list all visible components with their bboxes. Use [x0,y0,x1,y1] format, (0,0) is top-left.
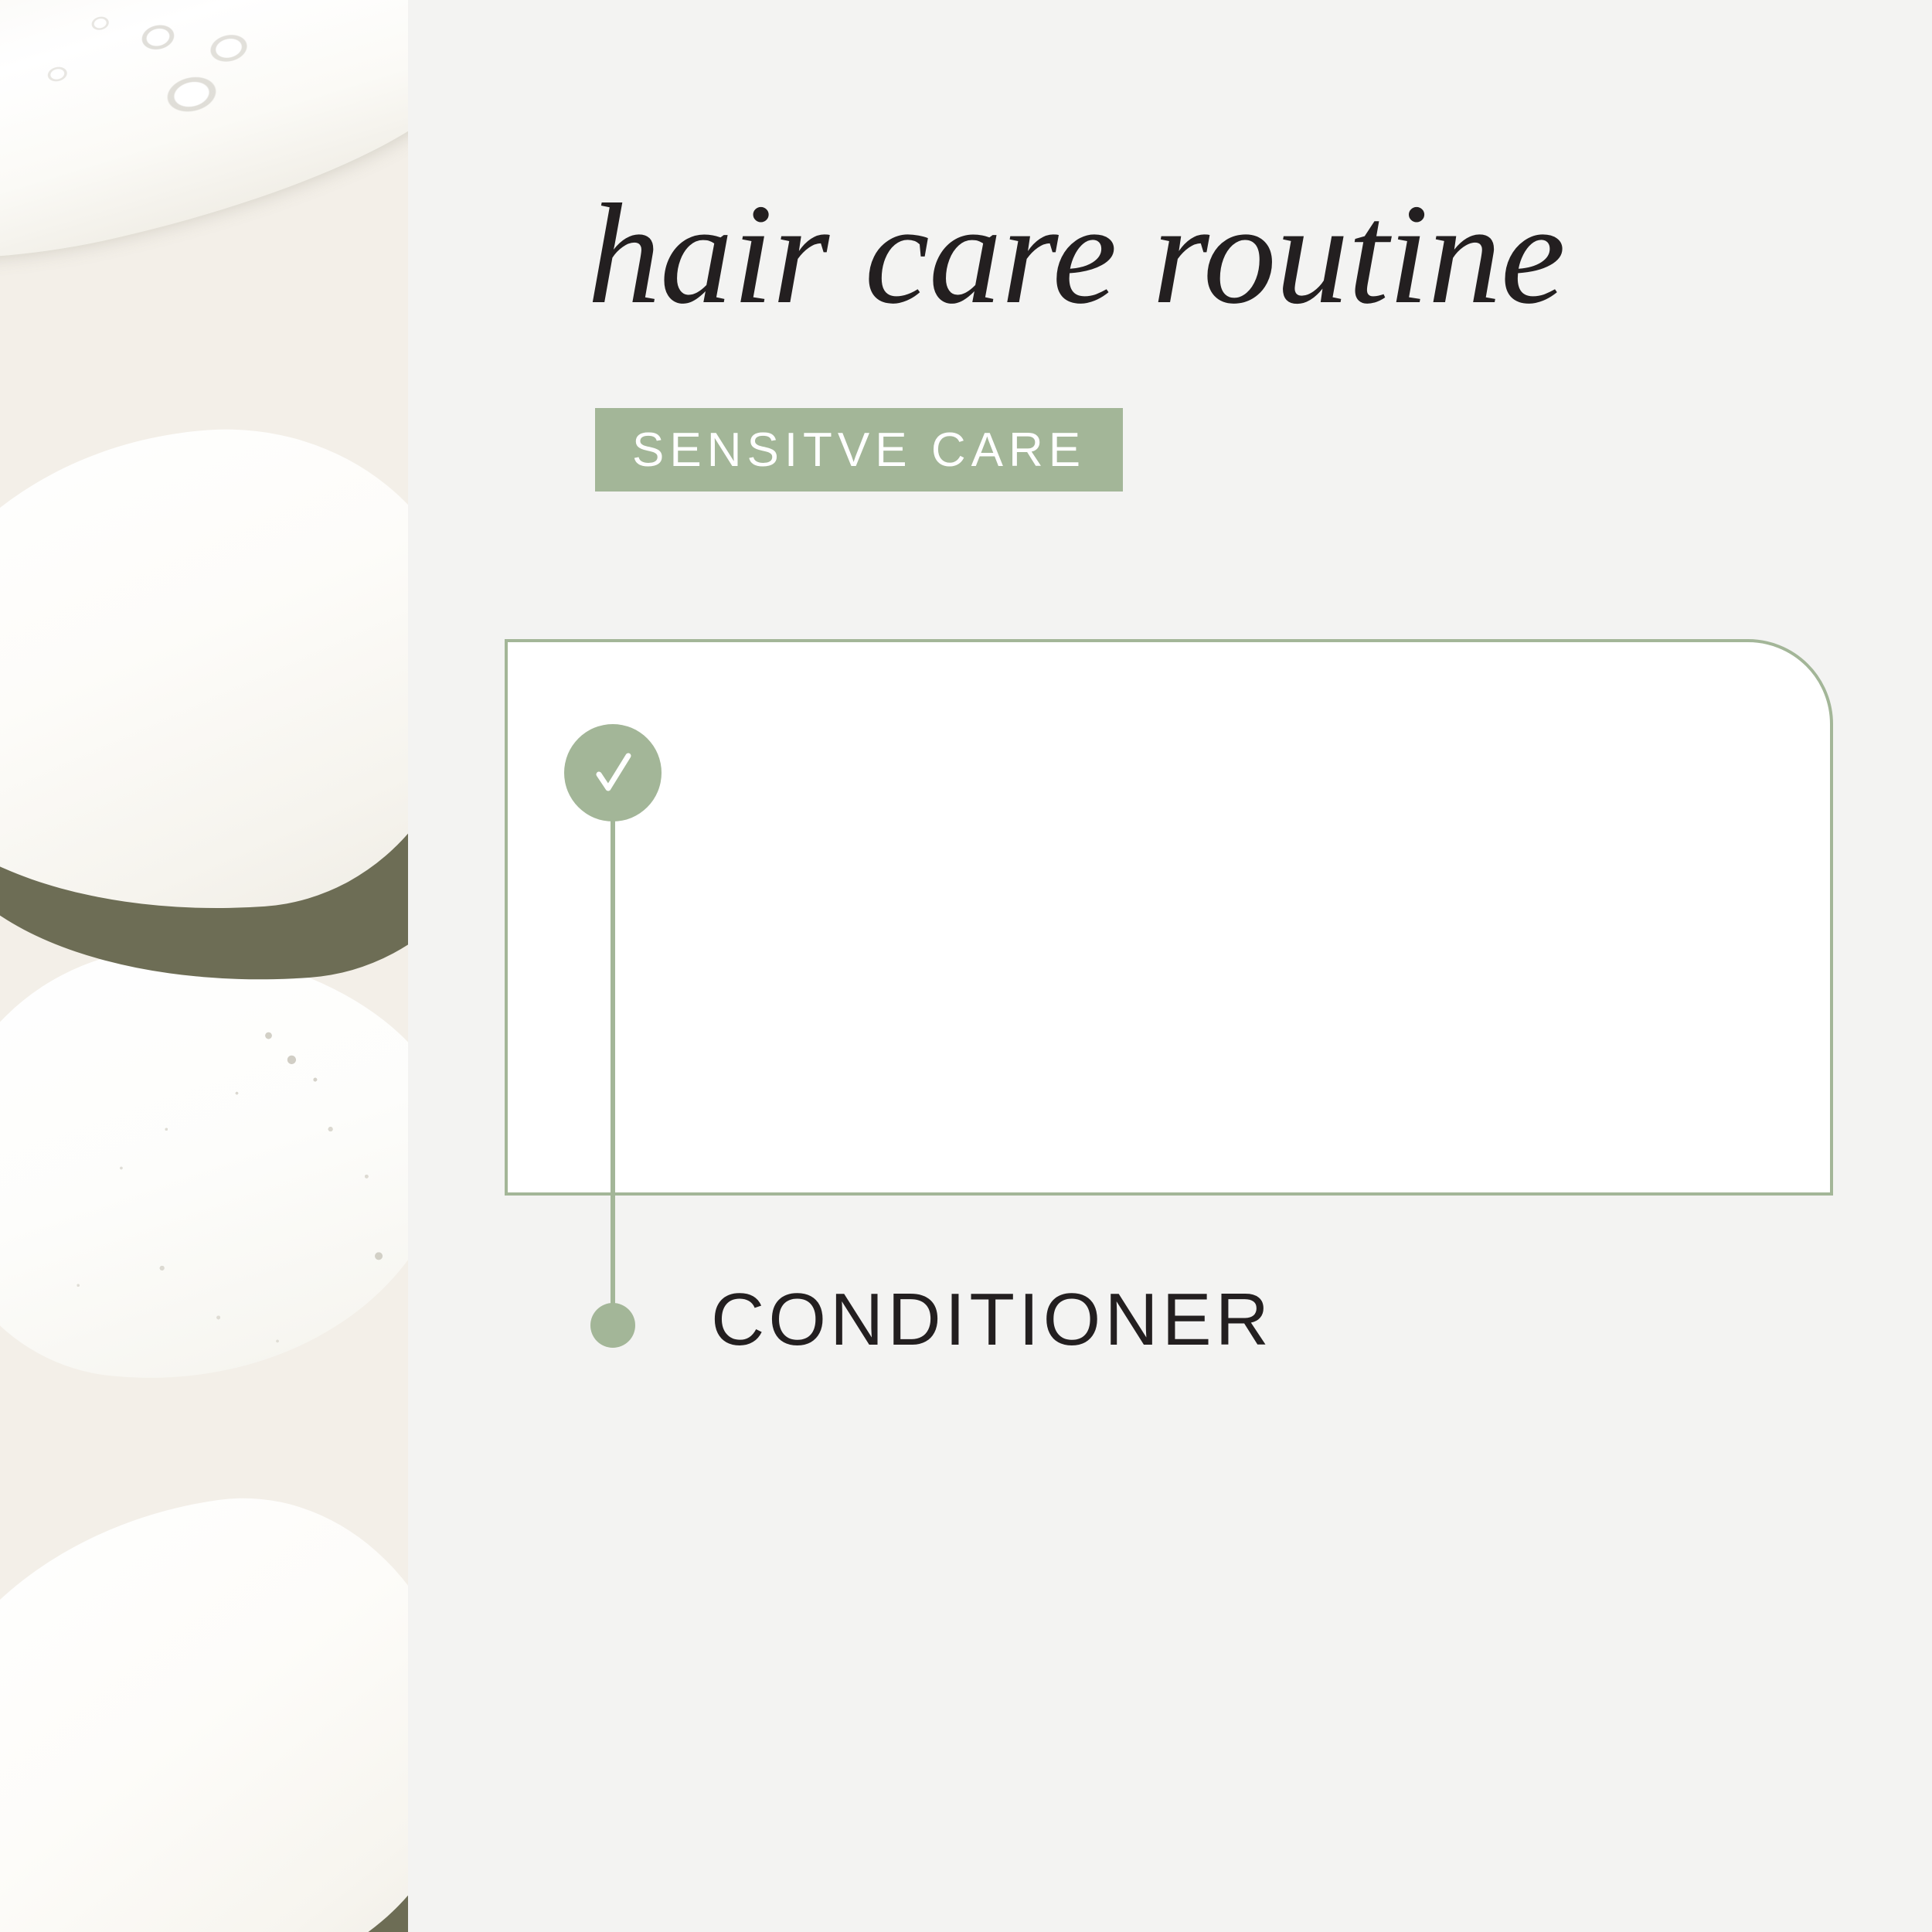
check-circle-marker[interactable] [564,724,662,821]
shampoo-step-card [505,639,1833,1196]
product-texture-strip [0,0,408,1932]
badge-label: SENSITVE CARE [632,423,1086,478]
white-foam-lather-swatch [0,925,408,1409]
clear-gel-bubbles-swatch [0,0,408,302]
status-badge: SENSITVE CARE [595,408,1123,492]
step-connector-line [611,815,615,1310]
step-title-conditioner: CONDITIONER [711,1283,1273,1357]
white-cream-swatch-lower [0,1471,408,1932]
poster-canvas: hair care routine SENSITVE CARE SHAMPOO … [0,0,1932,1932]
check-icon [583,743,642,802]
page-title: hair care routine [587,182,1636,326]
white-cream-swatch-upper [0,413,408,932]
dot-marker-conditioner[interactable] [590,1303,635,1348]
